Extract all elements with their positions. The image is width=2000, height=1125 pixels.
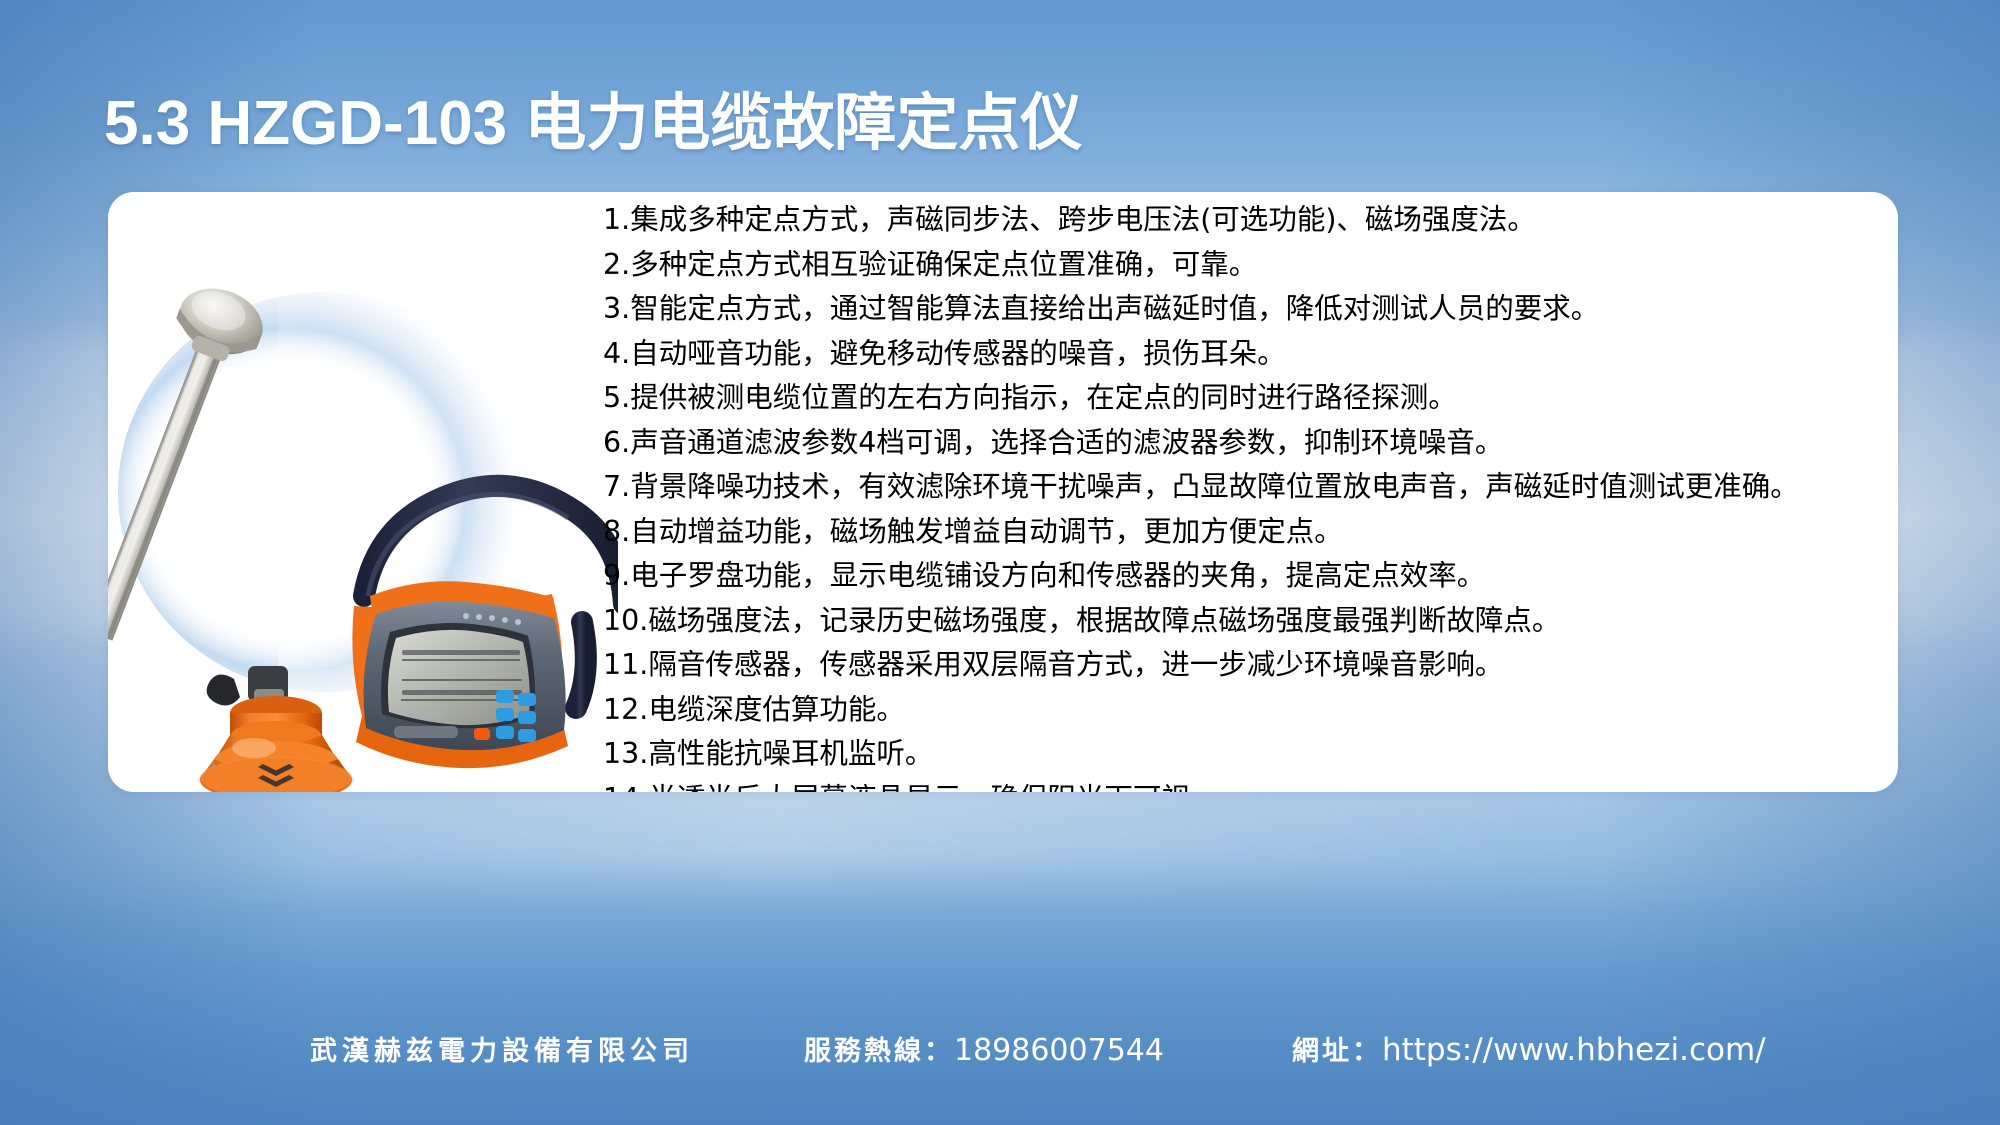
feature-item: 2.多种定点方式相互验证确保定点位置准确，可靠。 [603, 243, 1873, 288]
feature-item: 5.提供被测电缆位置的左右方向指示，在定点的同时进行路径探测。 [603, 376, 1873, 421]
footer-bar: 武漢赫兹電力設備有限公司 服務熱線： 18986007544 網址： https… [0, 1007, 2000, 1125]
product-image [108, 192, 618, 792]
feature-list: 1.集成多种定点方式，声磁同步法、跨步电压法(可选功能)、磁场强度法。 2.多种… [603, 198, 1873, 792]
feature-item: 6.声音通道滤波参数4档可调，选择合适的滤波器参数，抑制环境噪音。 [603, 421, 1873, 466]
feature-item: 13.高性能抗噪耳机监听。 [603, 732, 1873, 777]
feature-item: 14.半透半反大屏幕液晶显示，确保阳光下可视。 [603, 777, 1873, 793]
feature-item: 9.电子罗盘功能，显示电缆铺设方向和传感器的夹角，提高定点效率。 [603, 554, 1873, 599]
feature-item: 12.电缆深度估算功能。 [603, 688, 1873, 733]
feature-item: 1.集成多种定点方式，声磁同步法、跨步电压法(可选功能)、磁场强度法。 [603, 198, 1873, 243]
footer-website-label: 網址： [1292, 1029, 1382, 1068]
feature-item: 4.自动哑音功能，避免移动传感器的噪音，损伤耳朵。 [603, 332, 1873, 377]
device-side-text [408, 712, 442, 717]
feature-item: 3.智能定点方式，通过智能算法直接给出声磁延时值，降低对测试人员的要求。 [603, 287, 1873, 332]
footer-company-name: 武漢赫兹電力設備有限公司 [310, 1029, 694, 1068]
feature-item: 10.磁场强度法，记录历史磁场强度，根据故障点磁场强度最强判断故障点。 [603, 599, 1873, 644]
content-card: 1.集成多种定点方式，声磁同步法、跨步电压法(可选功能)、磁场强度法。 2.多种… [108, 192, 1898, 792]
footer-hotline-number: 18986007544 [954, 1033, 1164, 1068]
footer-hotline-label: 服務熱線： [804, 1029, 954, 1068]
feature-item: 11.隔音传感器，传感器采用双层隔音方式，进一步减少环境噪音影响。 [603, 643, 1873, 688]
product-illustration-svg [108, 192, 618, 792]
feature-item: 7.背景降噪功技术，有效滤除环境干扰噪声，凸显故障位置放电声音，声磁延时值测试更… [603, 465, 1873, 510]
page-title: 5.3 HZGD-103 电力电缆故障定点仪 [104, 88, 1082, 159]
feature-item: 8.自动增益功能，磁场触发增益自动调节，更加方便定点。 [603, 510, 1873, 555]
footer-website-url[interactable]: https://www.hbhezi.com/ [1382, 1032, 1766, 1068]
